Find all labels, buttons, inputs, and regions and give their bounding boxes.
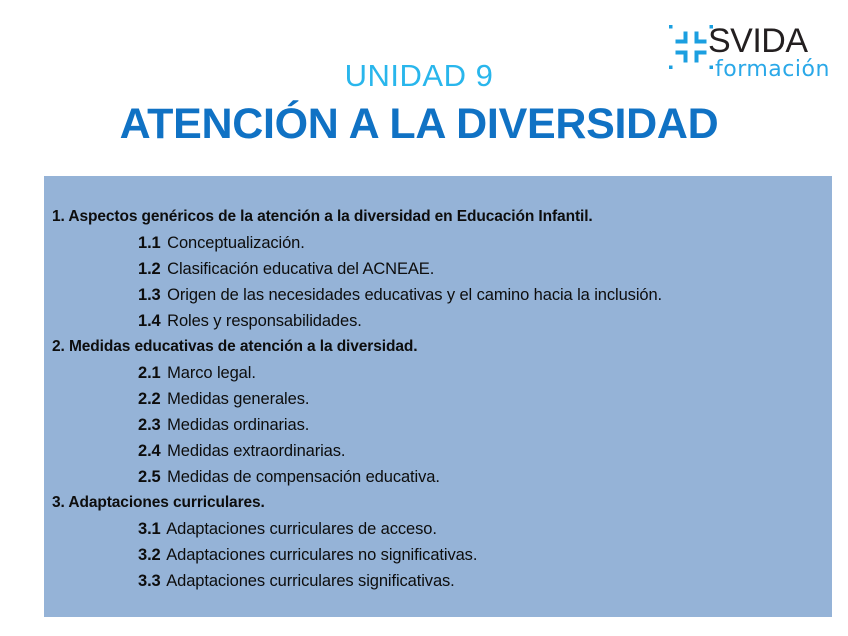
outline-item-number: 2.3 [138, 416, 161, 434]
outline-item: 1.3 Origen de las necesidades educativas… [52, 282, 826, 308]
outline-item: 1.4 Roles y responsabilidades. [52, 308, 826, 334]
outline-item-number: 2.1 [138, 364, 161, 382]
outline-item-text: Conceptualización. [163, 234, 305, 252]
outline-item-number: 1.2 [138, 260, 161, 278]
outline-item: 1.2 Clasificación educativa del ACNEAE. [52, 256, 826, 282]
outline-item: 3. Adaptaciones curriculares. [52, 490, 826, 516]
outline-item-number: 3.1 [138, 520, 161, 538]
outline-item-number: 1.4 [138, 312, 161, 330]
outline-item-number: 3. [52, 494, 65, 511]
outline-item: 2. Medidas educativas de atención a la d… [52, 334, 826, 360]
outline-item: 1.1 Conceptualización. [52, 230, 826, 256]
outline-item-text: Medidas de compensación educativa. [163, 468, 440, 486]
outline-item: 2.4 Medidas extraordinarias. [52, 438, 826, 464]
outline-item-number: 3.2 [138, 546, 161, 564]
outline-item-text: Medidas ordinarias. [163, 416, 310, 434]
outline-item-text: Marco legal. [163, 364, 256, 382]
outline-item-text: Medidas extraordinarias. [163, 442, 346, 460]
outline-item: 3.2 Adaptaciones curriculares no signifi… [52, 542, 826, 568]
outline-item: 2.2 Medidas generales. [52, 386, 826, 412]
outline-item-text: Medidas generales. [163, 390, 310, 408]
outline-item-number: 1.1 [138, 234, 161, 252]
outline-item-text: Roles y responsabilidades. [163, 312, 362, 330]
unit-label: UNIDAD 9 [0, 58, 848, 94]
outline-item-text: Medidas educativas de atención a la dive… [65, 338, 418, 355]
outline-list: 1. Aspectos genéricos de la atención a l… [52, 204, 826, 594]
page-title-text: ATENCIÓN A LA DIVERSIDAD [120, 100, 719, 149]
outline-item-number: 2. [52, 338, 65, 355]
outline-item-number: 2.4 [138, 442, 161, 460]
outline-item-number: 2.5 [138, 468, 161, 486]
outline-item-text: Adaptaciones curriculares no significati… [163, 546, 478, 564]
outline-item-number: 1.3 [138, 286, 161, 304]
outline-item-number: 1. [52, 208, 65, 225]
page-title: ATENCIÓN A LA DIVERSIDAD [0, 100, 848, 149]
unit-label-text: UNIDAD 9 [345, 58, 494, 94]
outline-item-number: 3.3 [138, 572, 161, 590]
outline-item-text: Clasificación educativa del ACNEAE. [163, 260, 435, 278]
content-panel: 1. Aspectos genéricos de la atención a l… [44, 176, 832, 617]
outline-item: 3.1 Adaptaciones curriculares de acceso. [52, 516, 826, 542]
outline-item-text: Aspectos genéricos de la atención a la d… [65, 208, 593, 225]
outline-item: 2.3 Medidas ordinarias. [52, 412, 826, 438]
outline-item-text: Adaptaciones curriculares significativas… [163, 572, 455, 590]
outline-item-text: Origen de las necesidades educativas y e… [163, 286, 662, 304]
outline-item: 1. Aspectos genéricos de la atención a l… [52, 204, 826, 230]
brand-wordmark: SVIDA [708, 24, 808, 58]
outline-item-text: Adaptaciones curriculares. [65, 494, 265, 511]
outline-item: 3.3 Adaptaciones curriculares significat… [52, 568, 826, 594]
outline-item-number: 2.2 [138, 390, 161, 408]
outline-item-text: Adaptaciones curriculares de acceso. [163, 520, 437, 538]
outline-item: 2.1 Marco legal. [52, 360, 826, 386]
outline-item: 2.5 Medidas de compensación educativa. [52, 464, 826, 490]
